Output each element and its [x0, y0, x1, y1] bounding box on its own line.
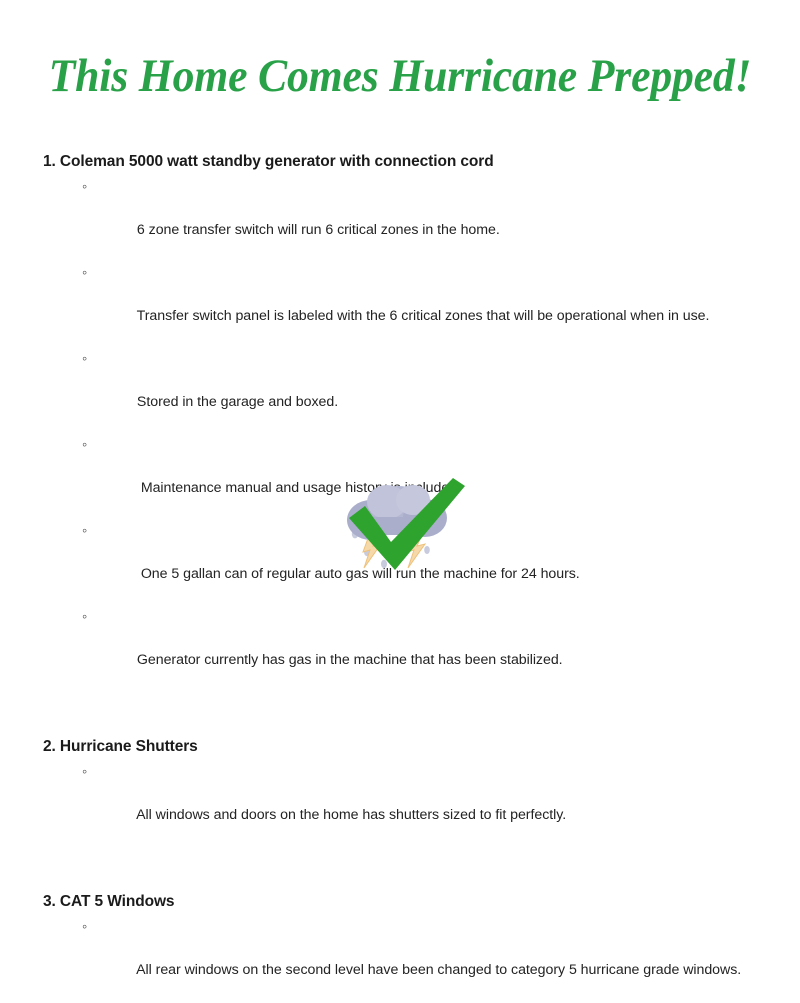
bullet-list: ◦ 6 zone transfer switch will run 6 crit… — [0, 177, 800, 693]
circle-bullet-icon: ◦ — [82, 177, 87, 199]
circle-bullet-icon: ◦ — [82, 762, 87, 784]
list-item-text: Stored in the garage and boxed. — [137, 394, 338, 410]
list-item: ◦ Transfer switch panel is labeled with … — [0, 263, 800, 349]
list-item: ◦ Generator currently has gas in the mac… — [0, 607, 800, 693]
page-title: This Home Comes Hurricane Prepped! — [28, 52, 772, 101]
section-windows: 3. CAT 5 Windows ◦ All rear windows on t… — [0, 892, 800, 1003]
list-item-text: 6 zone transfer switch will run 6 critic… — [137, 222, 500, 238]
storm-cloud-checkmark-icon — [329, 472, 477, 580]
circle-bullet-icon: ◦ — [82, 435, 87, 457]
list-item: ◦ Stored in the garage and boxed. — [0, 349, 800, 435]
list-item: ◦ All rear windows on the second level h… — [0, 917, 800, 1003]
list-item-text: All windows and doors on the home has sh… — [136, 807, 566, 823]
list-item-text: Transfer switch panel is labeled with th… — [137, 308, 710, 324]
circle-bullet-icon: ◦ — [82, 263, 87, 285]
circle-bullet-icon: ◦ — [82, 917, 87, 939]
section-heading: 1. Coleman 5000 watt standby generator w… — [0, 152, 800, 173]
circle-bullet-icon: ◦ — [82, 349, 87, 371]
list-item: ◦ All windows and doors on the home has … — [0, 762, 800, 848]
list-item-text: All rear windows on the second level hav… — [136, 962, 741, 978]
section-shutters: 2. Hurricane Shutters ◦ All windows and … — [0, 737, 800, 848]
section-generator: 1. Coleman 5000 watt standby generator w… — [0, 152, 800, 693]
section-heading: 3. CAT 5 Windows — [0, 892, 800, 913]
flyer-page: This Home Comes Hurricane Prepped! 1. Co… — [0, 0, 800, 600]
bullet-list: ◦ All windows and doors on the home has … — [0, 762, 800, 848]
list-item: ◦ 6 zone transfer switch will run 6 crit… — [0, 177, 800, 263]
circle-bullet-icon: ◦ — [82, 607, 87, 629]
circle-bullet-icon: ◦ — [82, 521, 87, 543]
bullet-list: ◦ All rear windows on the second level h… — [0, 917, 800, 1003]
section-heading: 2. Hurricane Shutters — [0, 737, 800, 758]
list-item-text: Generator currently has gas in the machi… — [137, 652, 563, 668]
